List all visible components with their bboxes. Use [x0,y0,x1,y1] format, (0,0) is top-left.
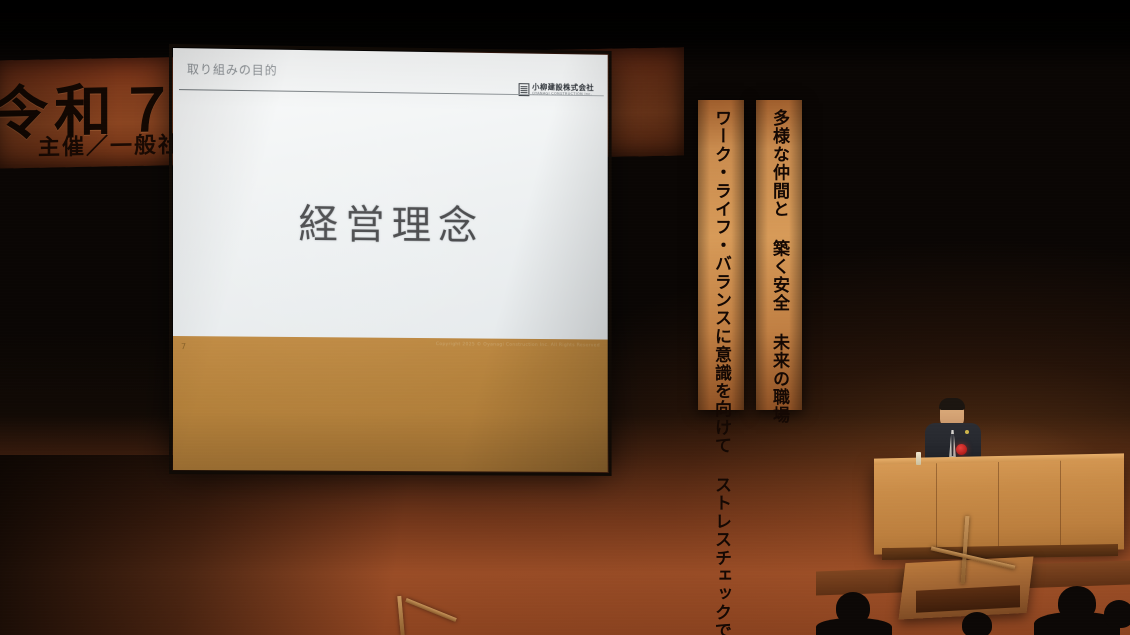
slide-title: 経営理念 [173,190,608,253]
podium-panel-seam [998,462,999,552]
vertical-banner-text: ワーク・ライフ・バランスに意識を向けて ストレスチェックで健康職場 [711,109,731,401]
screenshot-root: 令和７年 主催／一般社団 大会 会 ワーク・ライフ・バランスに意識を向けて スト… [0,0,1130,635]
red-rosette-icon [956,444,967,455]
slide-lower-panel [173,336,608,472]
audience-head [962,612,992,635]
lapel-pin-icon [965,430,969,434]
stage-floor-shadow-left [0,455,430,635]
projection-screen: 取り組みの目的 小柳建設株式会社 OYANAGI CONSTRUCTION In… [173,48,608,472]
water-bottle [916,452,921,465]
vertical-banner-text: 多様な仲間と 築く安全 未来の職場 [769,109,789,401]
audience-head [1104,600,1130,628]
podium-panel-seam [936,463,937,553]
speaker-hair [939,398,965,410]
slide-header: 取り組みの目的 小柳建設株式会社 OYANAGI CONSTRUCTION In… [187,58,598,94]
vertical-banner-diverse-colleagues: 多様な仲間と 築く安全 未来の職場 [756,100,802,410]
wooden-podium [874,457,1124,554]
slide-page-number: 7 [181,342,186,351]
presentation-slide: 取り組みの目的 小柳建設株式会社 OYANAGI CONSTRUCTION In… [173,48,608,472]
vertical-banner-work-life-balance: ワーク・ライフ・バランスに意識を向けて ストレスチェックで健康職場 [698,100,744,410]
podium-panel-seam [1060,461,1061,551]
slide-eyebrow-text: 取り組みの目的 [187,60,278,78]
audience-shoulders [816,618,892,635]
